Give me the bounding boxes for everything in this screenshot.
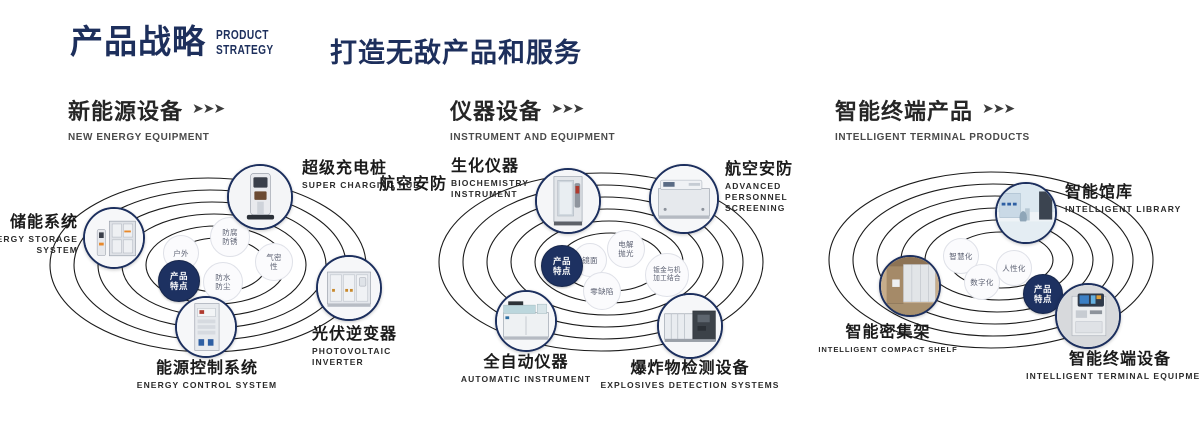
- page-title-en-line1: PRODUCT: [216, 27, 274, 42]
- chevrons-icon: ➤➤➤: [192, 100, 224, 117]
- product-features-badge: 产品特点: [158, 260, 200, 302]
- page-title-block: 产品战略 PRODUCT STRATEGY: [70, 22, 290, 62]
- node-label-compact-shelf: 智能密集架 INTELLIGENT COMPACT SHELF: [783, 323, 993, 355]
- page-subtitle: 打造无敌产品和服务: [330, 31, 582, 70]
- section-title-en: NEW ENERGY EQUIPMENT: [68, 131, 216, 143]
- feature-bubble: 零缺陷: [583, 272, 621, 310]
- node-charging-pile[interactable]: [227, 164, 293, 230]
- section-title-en: INTELLIGENT TERMINAL PRODUCTS: [835, 131, 1030, 143]
- node-intelligent-library[interactable]: [995, 182, 1057, 244]
- section-heading-new-energy: 新能源设备➤➤➤ NEW ENERGY EQUIPMENT: [68, 94, 224, 143]
- section-heading-instrument: 仪器设备➤➤➤ INSTRUMENT AND EQUIPMENT: [450, 94, 624, 143]
- section-heading-intelligent: 智能终端产品➤➤➤ INTELLIGENT TERMINAL PRODUCTS: [835, 94, 1040, 143]
- node-label-biochemistry-instrument: 生化仪器 BIOCHEMISTRY INSTRUMENT: [451, 157, 529, 200]
- node-label-aviation-security-left: 航空安防: [375, 175, 447, 194]
- section-title-en: INSTRUMENT AND EQUIPMENT: [450, 131, 615, 143]
- section-title-cn: 新能源设备: [68, 94, 183, 126]
- node-energy-storage[interactable]: [83, 207, 145, 269]
- node-energy-control[interactable]: [175, 296, 237, 358]
- node-automatic-instrument[interactable]: [495, 290, 557, 352]
- product-features-badge: 产品特点: [541, 245, 583, 287]
- node-label-terminal-kiosk: 智能终端设备 INTELLIGENT TERMINAL EQUIPMENT: [1005, 350, 1200, 382]
- chevrons-icon: ➤➤➤: [982, 100, 1014, 117]
- section-title-cn: 智能终端产品: [835, 94, 973, 126]
- node-screening-machine[interactable]: [649, 164, 719, 234]
- node-label-screening-machine: 航空安防 ADVANCED PERSONNEL SCREENING: [725, 160, 817, 214]
- node-compact-shelf[interactable]: [879, 255, 941, 317]
- page-title-en: PRODUCT STRATEGY: [216, 27, 274, 57]
- node-label-intelligent-library: 智能馆库 INTELLIGENT LIBRARY: [1065, 183, 1181, 215]
- section-title-cn: 仪器设备: [450, 94, 542, 126]
- node-label-energy-control: 能源控制系统 ENERGY CONTROL SYSTEM: [88, 359, 326, 391]
- cluster-intelligent-terminal: 智慧化 数字化 人性化 产品特点 智能馆库 INTELLIGENT LIBRAR…: [815, 150, 1200, 400]
- node-biochemistry-instrument[interactable]: [535, 168, 601, 234]
- cluster-instrument: 镜面 电解抛光 零缺陷 钣金与机加工结合 产品特点 生化仪器 BIOCHEMIS…: [425, 150, 825, 400]
- chevrons-icon: ➤➤➤: [551, 100, 583, 117]
- node-label-explosives-detector: 爆炸物检测设备 EXPLOSIVES DETECTION SYSTEMS: [590, 359, 790, 391]
- feature-bubble: 电解抛光: [607, 230, 645, 268]
- node-explosives-detector[interactable]: [657, 293, 723, 359]
- node-pv-inverter[interactable]: [316, 255, 382, 321]
- node-label-energy-storage: 储能系统 ENERGY STORAGE SYSTEM: [0, 213, 78, 256]
- page-title-en-line2: STRATEGY: [216, 42, 274, 57]
- page-title: 产品战略: [70, 22, 206, 62]
- feature-bubble: 气密性: [255, 243, 293, 281]
- node-terminal-kiosk[interactable]: [1055, 283, 1121, 349]
- feature-bubble: 数字化: [964, 264, 1000, 300]
- feature-bubble: 钣金与机加工结合: [645, 253, 689, 297]
- poster-canvas: 产品战略 PRODUCT STRATEGY 打造无敌产品和服务 新能源设备➤➤➤…: [0, 0, 1200, 422]
